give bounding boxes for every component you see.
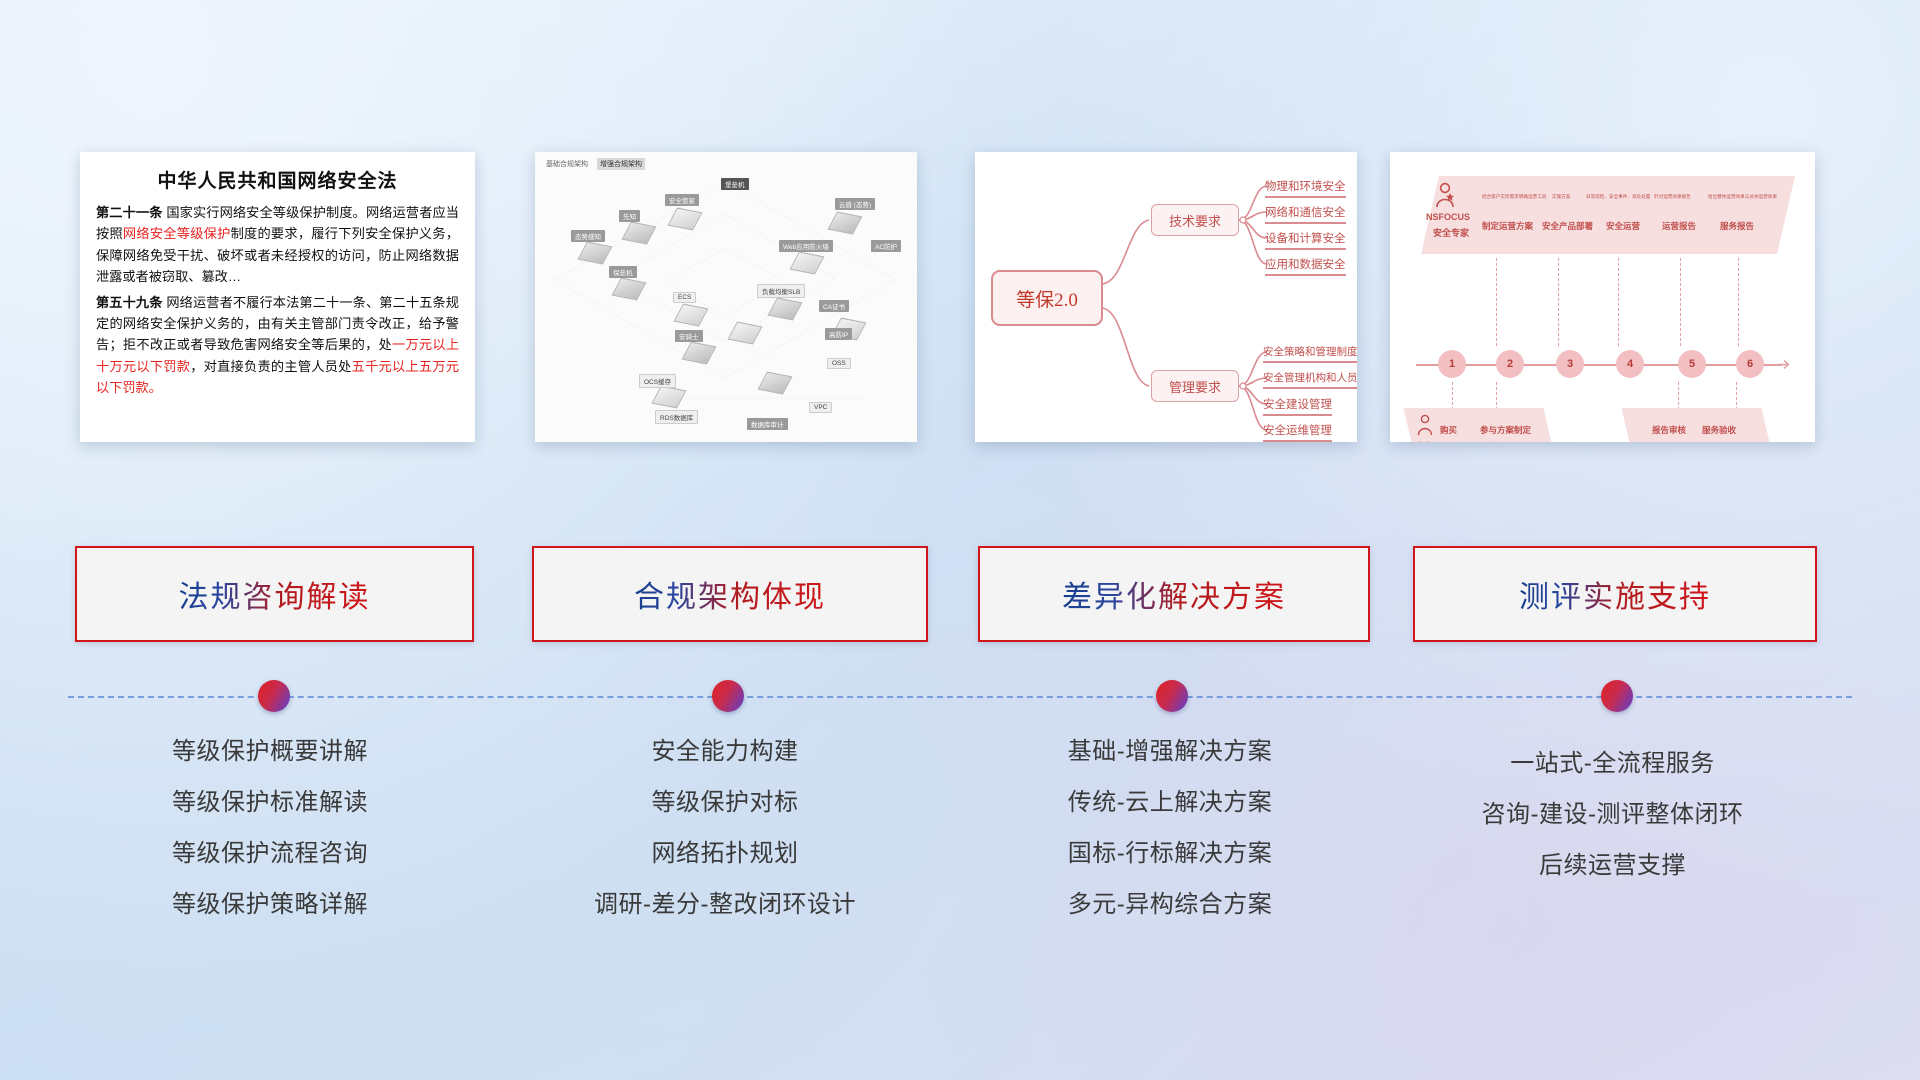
list-item: 基础-增强解决方案 [965, 740, 1375, 764]
axis-dot-3[interactable] [1156, 680, 1188, 712]
section-title-box-4[interactable]: 测评实施支持 [1413, 546, 1817, 642]
timeline-dashed-axis [68, 696, 1852, 698]
list-item: 安全能力构建 [525, 740, 925, 764]
section-title-label-4: 测评实施支持 [1519, 572, 1711, 616]
section-items-4: 一站式-全流程服务 咨询-建设-测评整体闭环 后续运营支撑 [1400, 752, 1825, 905]
section-title-label-2: 合规架构体现 [634, 572, 826, 616]
list-item: 调研-差分-整改闭环设计 [525, 893, 925, 917]
list-item: 等级保护对标 [525, 791, 925, 815]
list-item: 等级保护标准解读 [70, 791, 470, 815]
section-items-2: 安全能力构建 等级保护对标 网络拓扑规划 调研-差分-整改闭环设计 [525, 740, 925, 944]
axis-dot-2[interactable] [712, 680, 744, 712]
list-item: 咨询-建设-测评整体闭环 [1400, 803, 1825, 827]
list-item: 等级保护概要讲解 [70, 740, 470, 764]
list-item: 后续运营支撑 [1400, 854, 1825, 878]
list-item: 网络拓扑规划 [525, 842, 925, 866]
list-item: 等级保护策略详解 [70, 893, 470, 917]
section-title-label-1: 法规咨询解读 [179, 572, 371, 616]
section-items-1: 等级保护概要讲解 等级保护标准解读 等级保护流程咨询 等级保护策略详解 [70, 740, 470, 944]
list-item: 国标-行标解决方案 [965, 842, 1375, 866]
section-title-box-3[interactable]: 差异化解决方案 [978, 546, 1370, 642]
list-item: 传统-云上解决方案 [965, 791, 1375, 815]
section-title-box-1[interactable]: 法规咨询解读 [75, 546, 474, 642]
list-item: 等级保护流程咨询 [70, 842, 470, 866]
section-title-box-2[interactable]: 合规架构体现 [532, 546, 928, 642]
slide-canvas: 中华人民共和国网络安全法 第二十一条 国家实行网络安全等级保护制度。网络运营者应… [0, 0, 1920, 1080]
list-item: 一站式-全流程服务 [1400, 752, 1825, 776]
section-items-3: 基础-增强解决方案 传统-云上解决方案 国标-行标解决方案 多元-异构综合方案 [965, 740, 1375, 944]
axis-dot-1[interactable] [258, 680, 290, 712]
list-item: 多元-异构综合方案 [965, 893, 1375, 917]
axis-dot-4[interactable] [1601, 680, 1633, 712]
section-title-label-3: 差异化解决方案 [1062, 572, 1286, 616]
